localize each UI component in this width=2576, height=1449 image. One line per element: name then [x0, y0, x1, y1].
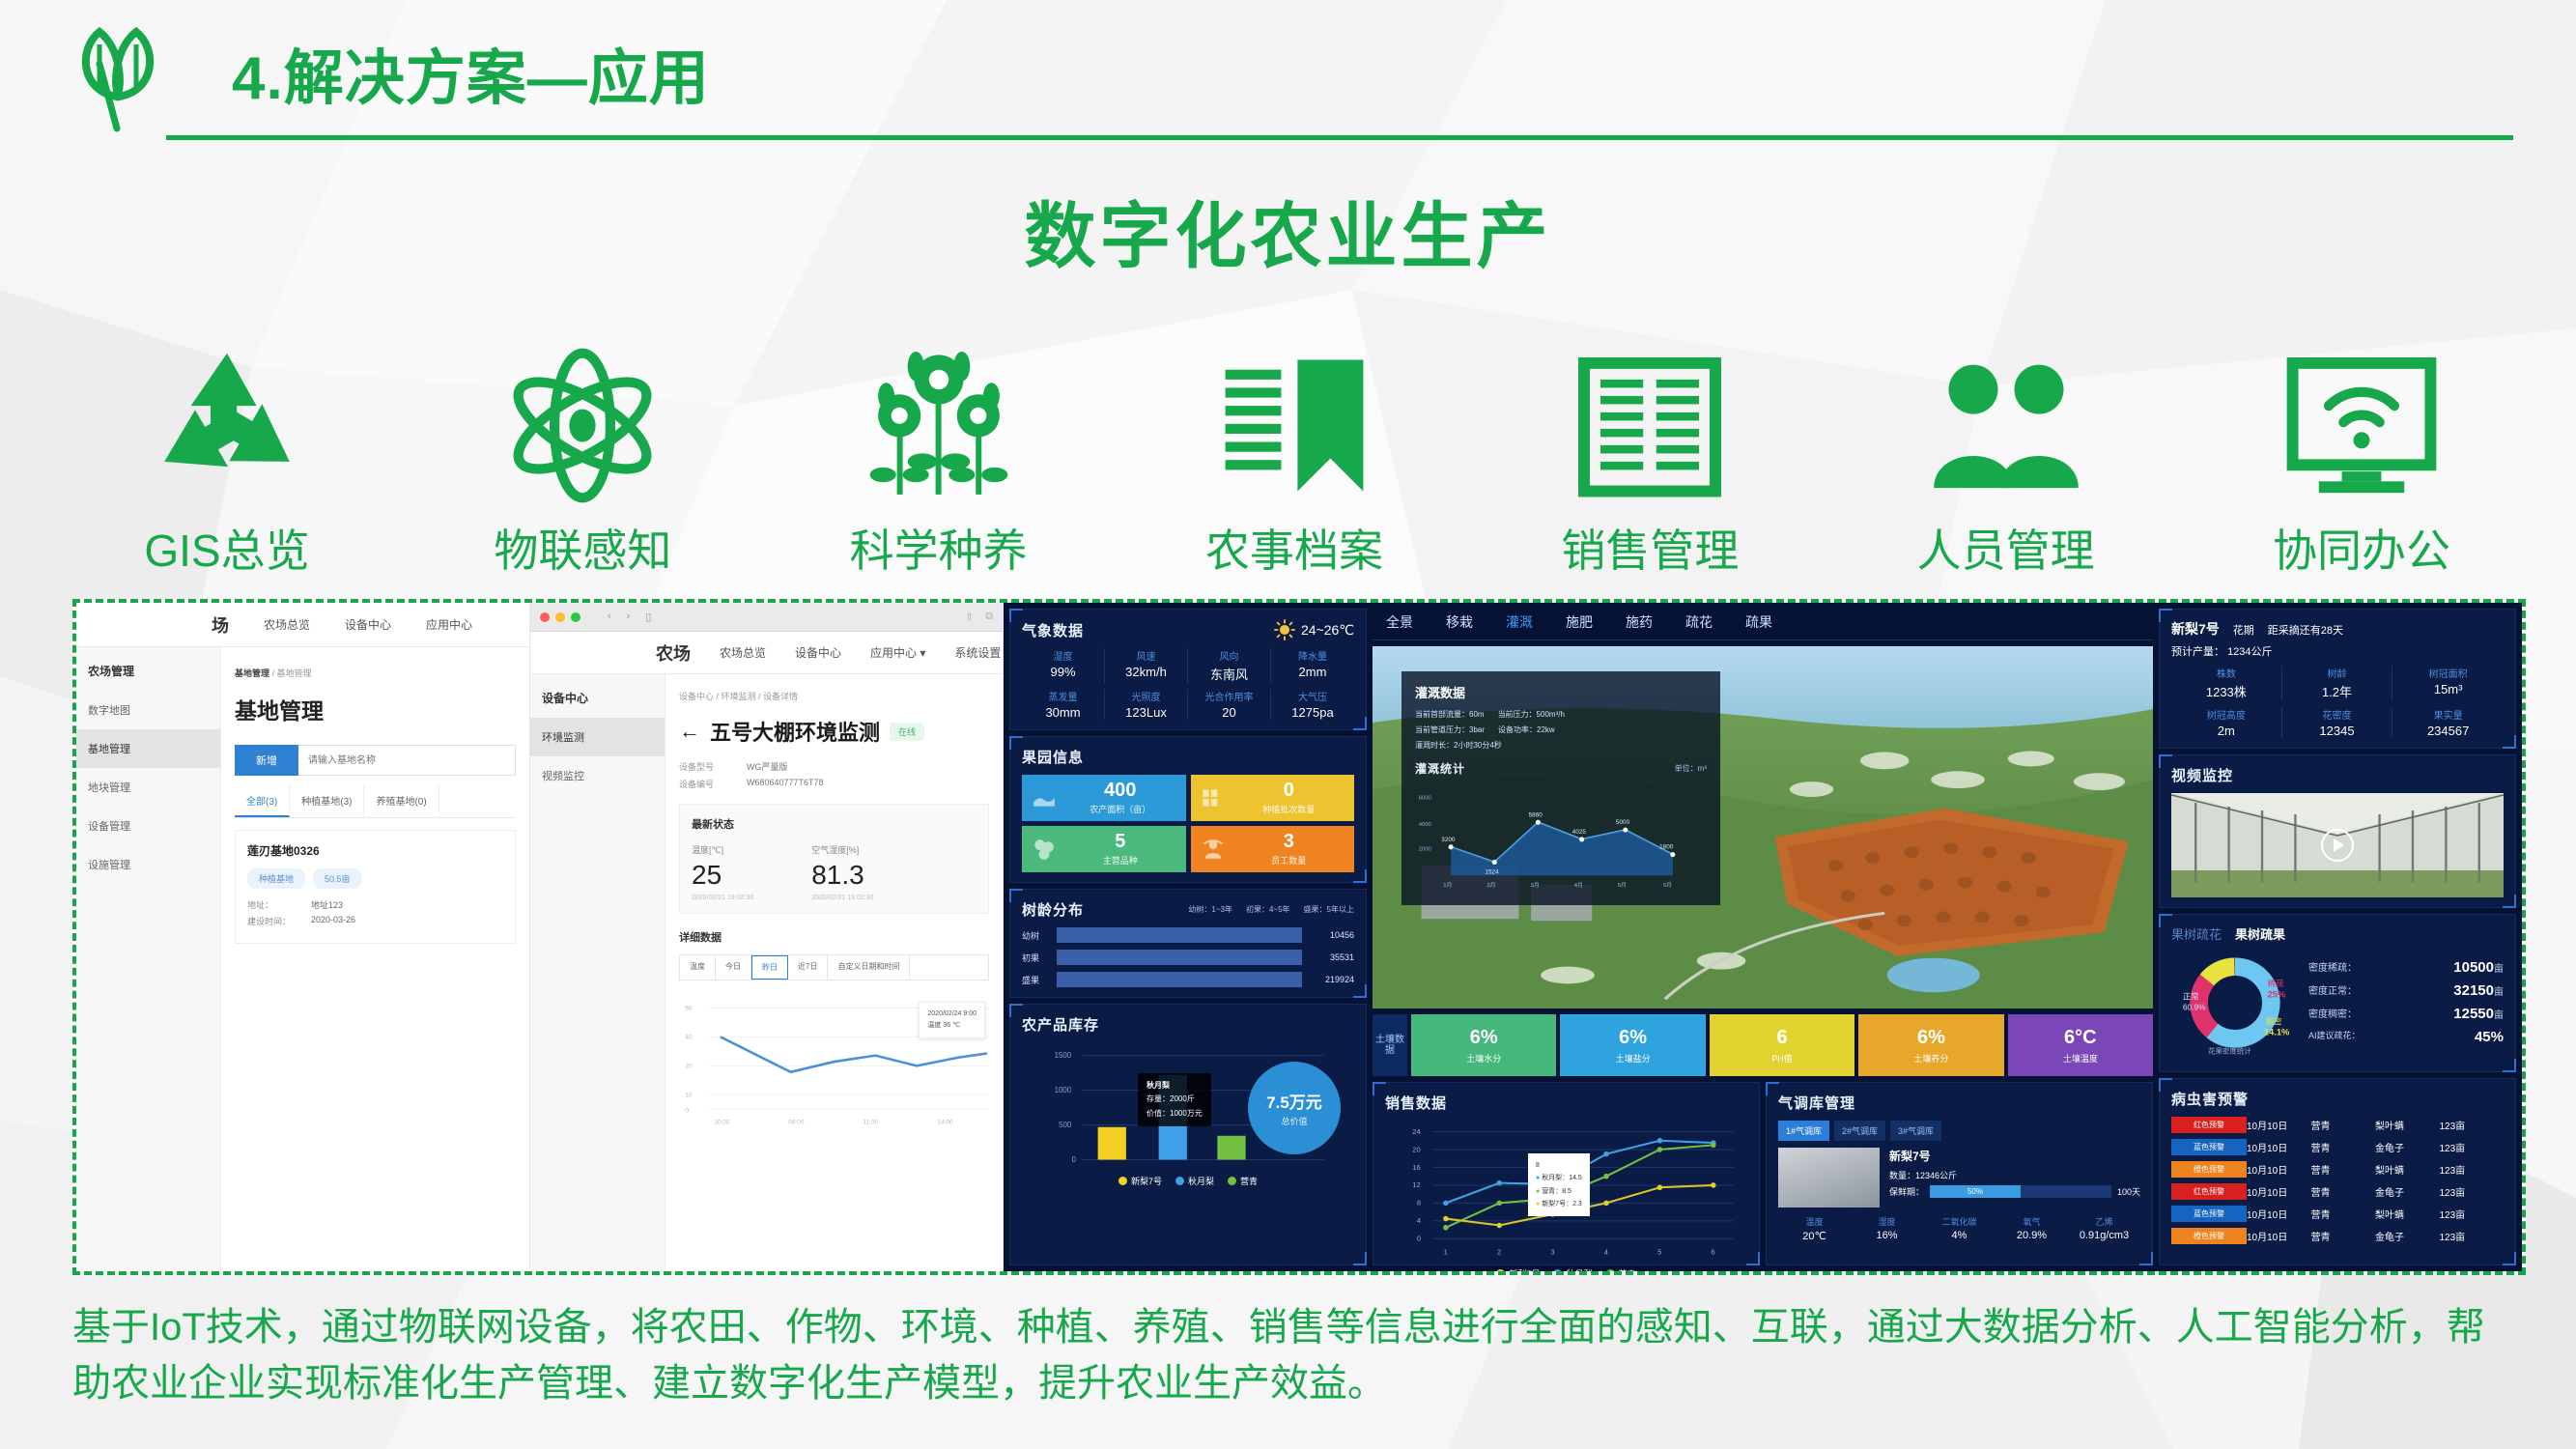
legend-label: 秋月梨: [1566, 1267, 1592, 1275]
archive-icon: [1212, 341, 1376, 510]
sales-legend: 新梨7号 秋月梨 营青: [1385, 1267, 1747, 1275]
temp-time: 2020/02/21 19:02:30: [692, 895, 753, 901]
grid-icon: [1201, 785, 1226, 810]
weather-value: 32km/h: [1105, 665, 1187, 679]
sales-tooltip: 8 ● 秋月梨：14.5 ● 营青：8.5 ● 新梨7号：2.3: [1528, 1153, 1590, 1216]
chart-controls: 温度 今日 昨日 近7日 自定义日期和时间: [679, 954, 989, 980]
p1-topbar: 场 农场总览 设备中心 应用中心: [76, 603, 529, 647]
temp-range: 24~26℃: [1301, 622, 1354, 639]
add-base-button[interactable]: 新增: [235, 745, 298, 776]
tab-store-3[interactable]: 3#气调库: [1890, 1121, 1941, 1141]
weather-value: 99%: [1022, 665, 1104, 679]
date-label: 建设时间：: [247, 915, 297, 927]
tab-fruit-thin[interactable]: 果树疏果: [2235, 924, 2285, 943]
svg-text:6: 6: [1712, 1247, 1715, 1256]
table-row[interactable]: 蓝色预警 10月10日 营青 梨叶螨 123亩: [2171, 1206, 2504, 1222]
tab-store-1[interactable]: 1#气调库: [1778, 1121, 1829, 1141]
model-value: WG严量版: [747, 760, 788, 773]
feature-staff[interactable]: 人员管理: [1837, 341, 2175, 580]
stat-unit: 亩: [2494, 987, 2504, 998]
weather-cell: 风向东南风: [1188, 648, 1271, 683]
feature-sales[interactable]: 销售管理: [1481, 341, 1819, 580]
age-value: 219924: [1308, 975, 1354, 984]
pest-date: 10月10日: [2247, 1184, 2311, 1199]
svg-text:20: 20: [685, 1063, 693, 1069]
tooltip-value: 价值：1000万元: [1146, 1107, 1203, 1121]
stat-label: 密度稠密：: [2308, 1006, 2357, 1022]
stat-row: 密度稀疏：10500亩: [2308, 959, 2504, 976]
pest-name: 金龟子: [2375, 1140, 2440, 1154]
svg-text:5月: 5月: [1618, 882, 1627, 889]
p1-nav-device[interactable]: 设备中心: [345, 616, 391, 633]
svg-text:8: 8: [1417, 1199, 1421, 1207]
tree-name: 新梨7号: [2171, 619, 2220, 639]
weather-value: 1275pa: [1271, 705, 1354, 720]
orchard-title: 果园信息: [1022, 747, 1354, 767]
pest-name: 金龟子: [2375, 1229, 2440, 1243]
age-value: 35531: [1308, 952, 1354, 962]
stat-value: 45%: [2475, 1029, 2504, 1045]
svg-text:25%: 25%: [2268, 989, 2286, 999]
tab-store-2[interactable]: 2#气调库: [1834, 1121, 1885, 1141]
stat-unit: 亩: [2494, 964, 2504, 975]
p2-nav-settings[interactable]: 系统设置: [954, 644, 1001, 661]
donut-caption: 花果密度统计: [2208, 1045, 2251, 1055]
inventory-tooltip: 秋月梨 存量：2000斤 价值：1000万元: [1138, 1073, 1211, 1126]
sidebar-item-base-mgmt[interactable]: 基地管理: [76, 729, 220, 768]
svg-text:6月: 6月: [1663, 882, 1672, 889]
status-badge: 红色预警: [2171, 1117, 2247, 1133]
sales-panel: 销售数据 242016 12840: [1373, 1082, 1760, 1265]
tree-age-title: 树龄分布: [1022, 899, 1084, 920]
addr-label: 地址：: [247, 898, 297, 911]
irrigation-power: 设备功率：22kw: [1498, 724, 1555, 735]
monitor-wifi-icon: [2279, 341, 2444, 510]
tab-panorama[interactable]: 全景: [1386, 612, 1413, 632]
maximize-icon[interactable]: [571, 612, 580, 622]
storage-photo: [1778, 1148, 1880, 1207]
tree-cell: 树冠高度2m: [2171, 707, 2282, 738]
p1-nav-overview[interactable]: 农场总览: [264, 616, 310, 633]
p2-brand: 农场: [656, 640, 691, 666]
status-badge: 在线: [890, 723, 924, 741]
latest-status-title: 最新状态: [692, 816, 977, 832]
status-badge: 橙色预警: [2171, 1161, 2247, 1178]
stat-value: 12550: [2453, 1006, 2494, 1022]
share-icon[interactable]: ⇧: [965, 611, 974, 623]
kpi-card[interactable]: 0种植批次数量: [1191, 775, 1355, 821]
p2-nav-overview[interactable]: 农场总览: [720, 644, 766, 661]
range-7days[interactable]: 近7日: [788, 955, 828, 980]
soil-data-row: 土壤数据 6% 土壤水分 6% 土壤盐分 6 PH值 6% 土壤养分: [1373, 1014, 2153, 1076]
kpi-number: 400: [1064, 781, 1176, 800]
pest-area: 营青: [2311, 1140, 2376, 1154]
p1-sidebar-header: 农场管理: [76, 647, 220, 691]
temperature-line-chart: 6040 20100 10:0008:00 11:0014:00 2020/02…: [679, 988, 989, 1133]
section-title: 数字化农业生产: [0, 179, 2576, 282]
svg-text:10:00: 10:00: [714, 1119, 729, 1125]
pest-date: 10月10日: [2247, 1229, 2311, 1243]
pest-area: 营青: [2311, 1118, 2376, 1132]
soil-value: 6%: [1619, 1027, 1647, 1049]
tab-planting[interactable]: 种植基地(3): [290, 785, 364, 817]
svg-text:10: 10: [685, 1092, 693, 1098]
tree-value: 234567: [2392, 724, 2504, 738]
p1-nav-apps[interactable]: 应用中心: [426, 616, 472, 633]
weather-cell: 光合作用率20: [1188, 689, 1271, 720]
stat-row: 密度正常：32150亩: [2308, 982, 2504, 999]
pest-area: 营青: [2311, 1162, 2376, 1177]
sidebar-item-env-monitor[interactable]: 环境监测: [530, 718, 665, 756]
qty-label: 数量：: [1889, 1171, 1915, 1180]
page-title: 4.解决方案—应用: [232, 29, 710, 116]
env-cell: 湿度16%: [1851, 1215, 1923, 1242]
kpi-card[interactable]: 5主营品种: [1022, 826, 1186, 872]
p2-nav-apps[interactable]: 应用中心 ▾: [870, 644, 925, 661]
video-title: 视频监控: [2171, 765, 2504, 785]
recycle-icon: [145, 341, 309, 510]
soil-data-label: 土壤数据: [1373, 1014, 1407, 1076]
svg-text:1524: 1524: [1485, 868, 1499, 875]
tree-age-row: 盛果 219924: [1022, 972, 1354, 987]
map-tabs: 全景 移栽 灌溉 施肥 施药 疏花 疏果: [1373, 609, 2153, 640]
model-label: 设备型号: [679, 760, 747, 773]
humidity-stat: 空气湿度[%] 81.3 2020/02/21 19:02:30: [811, 843, 873, 901]
soil-card: 6% 土壤水分: [1411, 1014, 1556, 1076]
age-value: 10456: [1308, 930, 1354, 940]
worker-icon: [1201, 837, 1226, 862]
soil-value: 6°C: [2064, 1027, 2097, 1049]
pest-name: 梨叶螨: [2375, 1118, 2440, 1132]
svg-text:1500: 1500: [1055, 1051, 1072, 1060]
forward-icon[interactable]: ›: [627, 611, 631, 623]
search-input[interactable]: [298, 745, 516, 776]
fresh-pct: 50%: [1930, 1185, 2021, 1198]
window-chrome: ‹ › ▯ ⇧ ⧉: [530, 603, 1003, 632]
p2-breadcrumb: 设备中心 / 环境监测 / 设备详情: [679, 690, 989, 702]
tab-fruit-thinning[interactable]: 疏果: [1745, 612, 1772, 632]
tooltip-row: 秋月梨: [1542, 1175, 1562, 1181]
stat-value: 10500: [2453, 959, 2494, 976]
svg-text:稀疏: 稀疏: [2268, 979, 2284, 988]
tooltip-time: 2020/02/24 9:00: [927, 1009, 977, 1020]
pest-size: 123亩: [2440, 1140, 2505, 1154]
env-label: 二氧化碳: [1923, 1215, 1996, 1228]
sidebar-item-facility-mgmt[interactable]: 设施管理: [76, 845, 220, 884]
svg-text:4000: 4000: [1419, 822, 1432, 828]
tree-cell: 树龄1.2年: [2282, 666, 2393, 700]
pest-date: 10月10日: [2247, 1162, 2311, 1177]
legend-item: 秋月梨: [1553, 1267, 1592, 1275]
tab-irrigation[interactable]: 灌溉: [1506, 612, 1533, 632]
sun-icon: [1274, 619, 1295, 640]
cold-storage-title: 气调库管理: [1778, 1093, 2140, 1113]
base-type-badge: 种植基地: [247, 868, 305, 889]
weather-label: 光照度: [1105, 689, 1187, 703]
tree-value: 1233株: [2171, 682, 2281, 700]
weather-cell: 光照度123Lux: [1105, 689, 1188, 720]
svg-text:500: 500: [1059, 1121, 1072, 1129]
table-row[interactable]: 橙色预警 10月10日 营青 金龟子 123亩: [2171, 1228, 2504, 1244]
stat-label: 密度正常：: [2308, 982, 2357, 999]
svg-text:11:00: 11:00: [863, 1119, 878, 1125]
soil-value: 6: [1776, 1027, 1787, 1049]
addr-value: 地址123: [311, 898, 343, 911]
sidebar-toggle-icon[interactable]: ▯: [645, 611, 651, 623]
close-icon[interactable]: [540, 612, 550, 622]
svg-text:1800: 1800: [1659, 844, 1674, 851]
legend-item: 秋月梨: [1175, 1175, 1214, 1187]
env-value: 20.9%: [1996, 1230, 2068, 1241]
sidebar-item-plot-mgmt[interactable]: 地块管理: [76, 768, 220, 807]
tree-age-panel: 树龄分布 幼树：1~3年 初果：4~5年 盛果：5年以上 幼树 10456 初果: [1009, 889, 1367, 998]
feature-label: GIS总览: [144, 516, 309, 580]
play-icon[interactable]: [2321, 829, 2354, 862]
p2-page-title-row: ← 五号大棚环境监测 在线: [679, 716, 989, 747]
p1-tabs: 全部(3) 种植基地(3) 养殖基地(0): [235, 785, 516, 818]
env-label: 乙烯: [2068, 1215, 2140, 1228]
temp-stat: 温度[℃] 25 2020/02/21 19:02:30: [692, 843, 753, 901]
tree-cell: 果实量234567: [2392, 707, 2504, 738]
humidity-value: 81.3: [811, 860, 873, 891]
stat-unit: 亩: [2494, 1010, 2504, 1021]
flowers-icon: [857, 341, 1021, 510]
feature-office[interactable]: 协同办公: [2193, 341, 2531, 580]
qty-value: 12346公斤: [1915, 1171, 1957, 1180]
svg-text:1月: 1月: [1443, 882, 1452, 889]
sidebar-item-digital-map[interactable]: 数字地图: [76, 691, 220, 729]
irrigation-pressure: 当前压力：500m³/h: [1498, 709, 1565, 720]
pest-area: 营青: [2311, 1207, 2376, 1221]
env-value: 0.91g/cm3: [2068, 1230, 2140, 1241]
weather-value: 30mm: [1022, 705, 1104, 720]
video-preview[interactable]: [2171, 793, 2504, 897]
irrigation-title: 灌溉数据: [1415, 683, 1707, 701]
tree-value: 15m³: [2392, 682, 2504, 696]
pest-size: 123亩: [2440, 1162, 2505, 1177]
p1-sidebar: 农场管理 数字地图 基地管理 地块管理 设备管理 设施管理: [76, 647, 221, 1271]
svg-text:0: 0: [1072, 1155, 1077, 1164]
tab-all[interactable]: 全部(3): [235, 785, 290, 817]
svg-text:12: 12: [1412, 1180, 1420, 1189]
kpi-number: 0: [1233, 781, 1345, 800]
total-value-number: 7.5万元: [1266, 1089, 1322, 1113]
kpi-number: 3: [1233, 832, 1345, 851]
feature-gis[interactable]: GIS总览: [58, 341, 396, 580]
tabs-icon[interactable]: ⧉: [985, 611, 993, 623]
table-row[interactable]: 橙色预警 10月10日 营青 梨叶螨 123亩: [2171, 1161, 2504, 1178]
donut-chart: 正常 60.9% 稀疏 25% 稠密 14.1% 花果密度统计: [2171, 949, 2299, 1062]
kpi-label: 员工数量: [1233, 854, 1345, 867]
range-yesterday[interactable]: 昨日: [751, 955, 788, 980]
age-name: 幼树: [1022, 929, 1051, 942]
soil-value: 6%: [1917, 1027, 1945, 1049]
p2-nav-device[interactable]: 设备中心: [795, 644, 841, 661]
irrigation-flow: 当前首部流量：60m: [1415, 709, 1485, 720]
env-cell: 乙烯0.91g/cm3: [2068, 1215, 2140, 1242]
feature-label: 农事档案: [1205, 516, 1383, 580]
detail-title: 详细数据: [679, 929, 989, 945]
tab-fertilize[interactable]: 施肥: [1566, 612, 1593, 632]
tooltip-title: 秋月梨: [1146, 1079, 1203, 1093]
tooltip-value: 温度 36 ℃: [927, 1020, 977, 1032]
sn-value: W680640777T6T78: [747, 778, 824, 790]
svg-text:24: 24: [1412, 1127, 1420, 1136]
breadcrumb-current: 基地管理: [277, 668, 312, 678]
pest-size: 123亩: [2440, 1207, 2505, 1221]
pest-date: 10月10日: [2247, 1118, 2311, 1132]
weather-value: 123Lux: [1105, 705, 1187, 720]
base-card-title: 莲刃基地0326: [247, 842, 503, 859]
fresh-label: 保鲜期：: [1889, 1185, 1924, 1198]
soil-label: 土壤养分: [1913, 1052, 1948, 1065]
svg-text:稠密: 稠密: [2266, 1016, 2282, 1026]
kpi-number: 5: [1064, 832, 1176, 851]
legend-item: 营青: [1606, 1267, 1636, 1275]
svg-text:16: 16: [1412, 1163, 1420, 1172]
tree-label: 花密度: [2282, 707, 2392, 722]
svg-text:5000: 5000: [1616, 819, 1630, 826]
svg-text:1000: 1000: [1055, 1086, 1072, 1094]
feature-iot[interactable]: 物联感知: [413, 341, 751, 580]
aerial-map[interactable]: 灌溉数据 当前首部流量：60m 当前压力：500m³/h 当前管道压力：3bar…: [1373, 646, 2153, 1009]
svg-text:5860: 5860: [1529, 811, 1543, 818]
breadcrumb-root[interactable]: 基地管理: [235, 668, 269, 678]
weather-cell: 风速32km/h: [1105, 648, 1188, 683]
p1-content: 基地管理 / 基地管理 基地管理 新增 全部(3) 种植基地(3) 养殖基地(0…: [221, 647, 529, 1271]
tab-flower-thin[interactable]: 果树疏花: [2171, 924, 2222, 943]
video-panel: 视频监控: [2159, 754, 2516, 908]
env-cell: 二氧化碳4%: [1923, 1215, 1996, 1242]
thinning-stats: 密度稀疏：10500亩 密度正常：32150亩 密度稠密：12550亩 AI建议…: [2308, 959, 2504, 1052]
weather-label: 风向: [1188, 648, 1270, 663]
env-label: 温度: [1778, 1215, 1851, 1228]
metric-select[interactable]: 温度: [680, 955, 716, 980]
minimize-icon[interactable]: [555, 612, 565, 622]
weather-value: 2mm: [1271, 665, 1354, 679]
p2-sidebar-header: 设备中心: [530, 674, 665, 718]
base-area-badge: 50.5亩: [313, 868, 362, 889]
weather-panel: 气象数据 24~26℃: [1009, 609, 1367, 730]
inventory-panel: 农产品库存 15001000 5000: [1009, 1004, 1367, 1265]
svg-text:14:00: 14:00: [938, 1119, 953, 1125]
sidebar-item-device-mgmt[interactable]: 设备管理: [76, 807, 220, 845]
svg-text:4: 4: [1417, 1216, 1421, 1225]
kpi-card[interactable]: 400农产面积（亩）: [1022, 775, 1186, 821]
range-today[interactable]: 今日: [716, 955, 751, 980]
tab-breeding[interactable]: 养殖基地(0): [364, 785, 439, 817]
pest-size: 123亩: [2440, 1118, 2505, 1132]
tree-label: 树冠面积: [2392, 666, 2504, 680]
env-cell: 温度20℃: [1778, 1215, 1851, 1242]
pest-size: 123亩: [2440, 1229, 2505, 1243]
tooltip-row: 营青: [1542, 1188, 1555, 1195]
tree-age-row: 初果 35531: [1022, 950, 1354, 965]
svg-text:08:00: 08:00: [788, 1119, 804, 1125]
weather-label: 大气压: [1271, 689, 1354, 703]
yield-label: 预计产量：: [2171, 646, 2224, 658]
tree-value: 1.2年: [2282, 682, 2392, 700]
svg-text:14.1%: 14.1%: [2264, 1028, 2290, 1037]
tooltip-x: 8: [1536, 1159, 1582, 1172]
pest-date: 10月10日: [2247, 1140, 2311, 1154]
weather-temp: 24~26℃: [1274, 619, 1354, 640]
weather-value: 20: [1188, 705, 1270, 720]
p2-topbar: 农场 农场总览 设备中心 应用中心 ▾ 系统设置: [530, 632, 1003, 674]
tooltip-value: 2.3: [1572, 1201, 1582, 1207]
tab-flower-thinning[interactable]: 疏花: [1685, 612, 1713, 632]
storage-product: 新梨7号: [1889, 1148, 2140, 1164]
weather-title: 气象数据: [1022, 620, 1084, 640]
tooltip-row: 新梨7号: [1542, 1201, 1566, 1207]
table-row[interactable]: 红色预警 10月10日 营青 金龟子 123亩: [2171, 1183, 2504, 1200]
kpi-card[interactable]: 3员工数量: [1191, 826, 1355, 872]
table-row[interactable]: 红色预警 10月10日 营青 梨叶螨 123亩: [2171, 1117, 2504, 1133]
legend-label: 新梨7号: [1509, 1267, 1540, 1275]
base-card[interactable]: 莲刃基地0326 种植基地 50.5亩 地址： 地址123 建设时间： 2020…: [235, 830, 516, 944]
tree-value: 12345: [2282, 724, 2392, 738]
feature-label: 销售管理: [1561, 516, 1739, 580]
cold-storage-tabs: 1#气调库 2#气调库 3#气调库: [1778, 1121, 2140, 1141]
tree-cell: 株数1233株: [2171, 666, 2282, 700]
stat-row: AI建议疏花：45%: [2308, 1029, 2504, 1045]
stat-label: 密度稀疏：: [2308, 959, 2357, 976]
soil-label: 土壤温度: [2063, 1052, 2098, 1065]
tree-label: 株数: [2171, 666, 2281, 680]
p1-brand: 场: [212, 612, 229, 638]
weather-label: 湿度: [1022, 648, 1104, 663]
weather-label: 降水量: [1271, 648, 1354, 663]
env-cell: 氧气20.9%: [1996, 1215, 2068, 1242]
tree-harvest: 距采摘还有28天: [2268, 622, 2343, 638]
p2-sidebar: 设备中心 环境监测 视频监控: [530, 674, 665, 1271]
feature-label: 物联感知: [494, 516, 671, 580]
soil-label: 土壤水分: [1466, 1052, 1501, 1065]
table-row[interactable]: 蓝色预警 10月10日 营青 金龟子 123亩: [2171, 1139, 2504, 1155]
tree-label: 果实量: [2392, 707, 2504, 722]
sn-label: 设备编号: [679, 778, 747, 790]
svg-text:4025: 4025: [1572, 829, 1587, 836]
weather-cell: 降水量2mm: [1271, 648, 1354, 683]
svg-text:0: 0: [685, 1108, 689, 1115]
tree-value: 2m: [2171, 724, 2281, 738]
sidebar-item-video-monitor[interactable]: 视频监控: [530, 756, 665, 795]
page-caption: 基于IoT技术，通过物联网设备，将农田、作物、环境、种植、养殖、销售等信息进行全…: [72, 1299, 2516, 1411]
env-value: 20℃: [1778, 1230, 1851, 1242]
feature-planting[interactable]: 科学种养: [770, 341, 1108, 580]
farm-management-app: 场 农场总览 设备中心 应用中心 农场管理 数字地图 基地管理 地块管理 设备管…: [76, 603, 530, 1271]
age-name: 盛果: [1022, 974, 1051, 986]
tree-label: 树龄: [2282, 666, 2392, 680]
env-label: 氧气: [1996, 1215, 2068, 1228]
irrigation-unit: 单位：m³: [1675, 763, 1707, 774]
soil-label: 土壤盐分: [1616, 1052, 1651, 1065]
tab-transplant[interactable]: 移栽: [1446, 612, 1473, 632]
stat-row: 密度稠密：12550亩: [2308, 1006, 2504, 1022]
legend-label: 新梨7号: [1131, 1175, 1162, 1187]
back-arrow-icon[interactable]: ←: [679, 719, 700, 744]
pest-name: 梨叶螨: [2375, 1162, 2440, 1177]
date-picker[interactable]: 自定义日期和时间: [828, 955, 910, 980]
back-icon[interactable]: ‹: [608, 611, 611, 623]
tab-pesticide[interactable]: 施药: [1626, 612, 1653, 632]
feature-archive[interactable]: 农事档案: [1125, 341, 1463, 580]
svg-text:3月: 3月: [1531, 882, 1540, 889]
pest-date: 10月10日: [2247, 1207, 2311, 1221]
pest-size: 123亩: [2440, 1184, 2505, 1199]
yield-value: 1234公斤: [2227, 646, 2272, 658]
latest-status-box: 最新状态 温度[℃] 25 2020/02/21 19:02:30 空气湿度[%…: [679, 804, 989, 914]
